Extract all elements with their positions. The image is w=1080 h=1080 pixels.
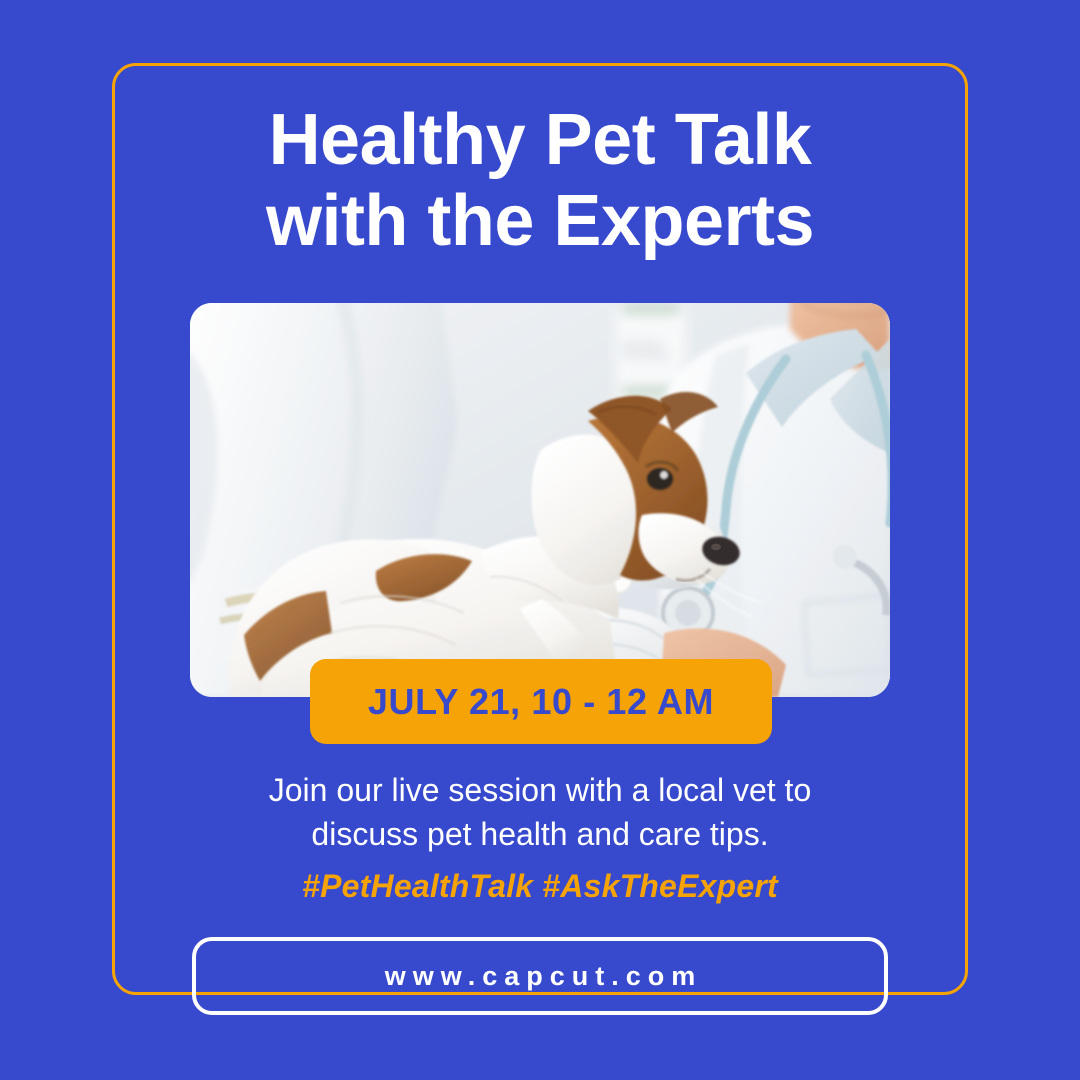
date-time-badge: JULY 21, 10 - 12 AM: [310, 659, 772, 744]
event-description: Join our live session with a local vet t…: [140, 768, 940, 856]
website-bar[interactable]: www.capcut.com: [192, 937, 888, 1015]
hero-photo: [190, 303, 890, 697]
website-url: www.capcut.com: [378, 961, 703, 992]
page-title-line-1: Healthy Pet Talk: [90, 100, 990, 181]
date-time-text: JULY 21, 10 - 12 AM: [368, 681, 714, 723]
page-title: Healthy Pet Talk with the Experts: [90, 100, 990, 261]
hashtags: #PetHealthTalk #AskTheExpert: [140, 868, 940, 905]
vet-examining-dog-illustration: [190, 303, 890, 697]
event-description-line-2: discuss pet health and care tips.: [140, 812, 940, 856]
event-description-line-1: Join our live session with a local vet t…: [140, 768, 940, 812]
poster-canvas: Healthy Pet Talk with the Experts: [0, 0, 1080, 1080]
page-title-line-2: with the Experts: [90, 181, 990, 262]
